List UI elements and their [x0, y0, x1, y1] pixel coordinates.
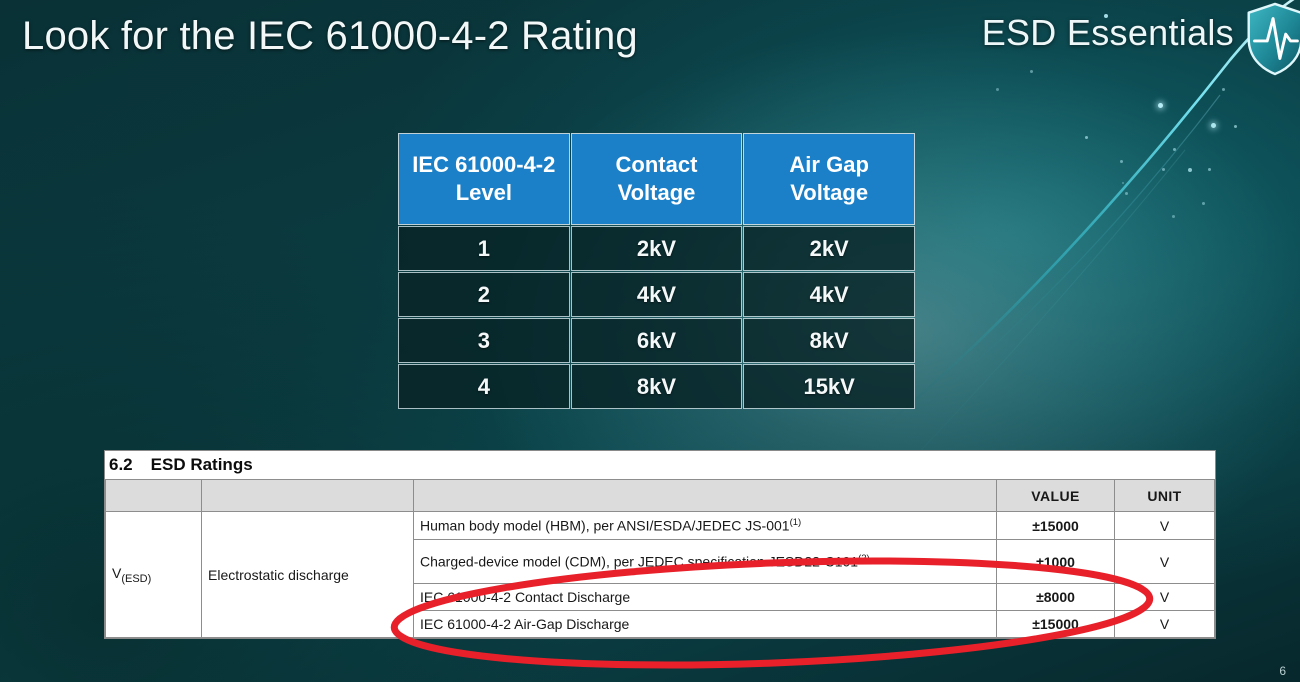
sparkle-dot [1188, 168, 1192, 172]
section-number: 6.2 [109, 455, 133, 474]
table-row: 3 6kV 8kV [399, 319, 914, 362]
cell-airgap: 15kV [744, 365, 914, 408]
sparkle-dot [1085, 136, 1088, 139]
col-header-unit: UNIT [1115, 480, 1215, 512]
sparkle-dot [1122, 182, 1124, 184]
col-header-parameter [202, 480, 414, 512]
cell-airgap: 2kV [744, 227, 914, 270]
cell-description: IEC 61000-4-2 Contact Discharge [414, 584, 997, 611]
cell-description: IEC 61000-4-2 Air-Gap Discharge [414, 611, 997, 638]
cell-value: ±15000 [997, 512, 1115, 540]
col-header-airgap: Air Gap Voltage [744, 134, 914, 224]
cell-unit: V [1115, 584, 1215, 611]
description-text: Charged-device model (CDM), per JEDEC sp… [420, 553, 858, 569]
col-header-contact-line1: Contact [616, 152, 698, 177]
page-number: 6 [1279, 664, 1286, 678]
cell-unit: V [1115, 611, 1215, 638]
cell-contact: 6kV [572, 319, 742, 362]
sparkle-dot [1208, 168, 1211, 171]
slide-title: Look for the IEC 61000-4-2 Rating [22, 14, 638, 59]
shield-pulse-icon [1244, 2, 1300, 76]
col-header-value: VALUE [997, 480, 1115, 512]
sparkle-dot [1173, 148, 1176, 151]
sparkle-dot [1162, 168, 1165, 171]
col-header-description [414, 480, 997, 512]
cell-description: Human body model (HBM), per ANSI/ESDA/JE… [414, 512, 997, 540]
col-header-symbol [106, 480, 202, 512]
cell-symbol: V(ESD) [106, 512, 202, 638]
brand-label: ESD Essentials [982, 12, 1234, 54]
cell-level: 4 [399, 365, 569, 408]
iec-level-table: IEC 61000-4-2 Level Contact Voltage Air … [396, 131, 917, 411]
table-row: 4 8kV 15kV [399, 365, 914, 408]
col-header-airgap-line1: Air Gap [789, 152, 868, 177]
description-text: Human body model (HBM), per ANSI/ESDA/JE… [420, 517, 790, 533]
sparkle-dot [1202, 202, 1205, 205]
col-header-level-line1: IEC 61000-4-2 [412, 152, 555, 177]
col-header-contact: Contact Voltage [572, 134, 742, 224]
sparkle-dot [1120, 160, 1123, 163]
col-header-airgap-line2: Voltage [790, 180, 868, 205]
cell-unit: V [1115, 512, 1215, 540]
sparkle-dot [1172, 215, 1175, 218]
table-row: 1 2kV 2kV [399, 227, 914, 270]
cell-contact: 2kV [572, 227, 742, 270]
cell-contact: 4kV [572, 273, 742, 316]
cell-airgap: 4kV [744, 273, 914, 316]
cell-level: 3 [399, 319, 569, 362]
sparkle-dot [1222, 88, 1225, 91]
cell-description: Charged-device model (CDM), per JEDEC sp… [414, 540, 997, 584]
cell-value: ±8000 [997, 584, 1115, 611]
cell-value: ±1000 [997, 540, 1115, 584]
cell-value: ±15000 [997, 611, 1115, 638]
footnote-marker: (2) [858, 553, 870, 564]
sparkle-dot [1158, 103, 1163, 108]
table-header-row: IEC 61000-4-2 Level Contact Voltage Air … [399, 134, 914, 224]
cell-level: 2 [399, 273, 569, 316]
symbol-text: V [112, 565, 121, 581]
table-row: V(ESD) Electrostatic discharge Human bod… [106, 512, 1215, 540]
sparkle-dot [996, 88, 999, 91]
col-header-contact-line2: Voltage [618, 180, 696, 205]
sparkle-dot [1125, 192, 1128, 195]
col-header-level-line2: Level [456, 180, 512, 205]
slide-canvas: Look for the IEC 61000-4-2 Rating ESD Es… [0, 0, 1300, 682]
table-row: 2 4kV 4kV [399, 273, 914, 316]
cell-parameter: Electrostatic discharge [202, 512, 414, 638]
sparkle-dot [1030, 70, 1033, 73]
datasheet-section-heading: 6.2ESD Ratings [105, 451, 1215, 479]
table-header-row: VALUE UNIT [106, 480, 1215, 512]
section-title: ESD Ratings [151, 455, 253, 474]
footnote-marker: (1) [790, 517, 802, 528]
cell-airgap: 8kV [744, 319, 914, 362]
col-header-level: IEC 61000-4-2 Level [399, 134, 569, 224]
sparkle-dot [1211, 123, 1216, 128]
symbol-subscript: (ESD) [121, 573, 151, 585]
cell-level: 1 [399, 227, 569, 270]
datasheet-excerpt-panel: 6.2ESD Ratings VALUE UNIT V(ESD) [104, 450, 1216, 639]
cell-unit: V [1115, 540, 1215, 584]
esd-ratings-table: VALUE UNIT V(ESD) Electrostatic discharg… [105, 479, 1215, 638]
cell-contact: 8kV [572, 365, 742, 408]
sparkle-dot [1234, 125, 1237, 128]
